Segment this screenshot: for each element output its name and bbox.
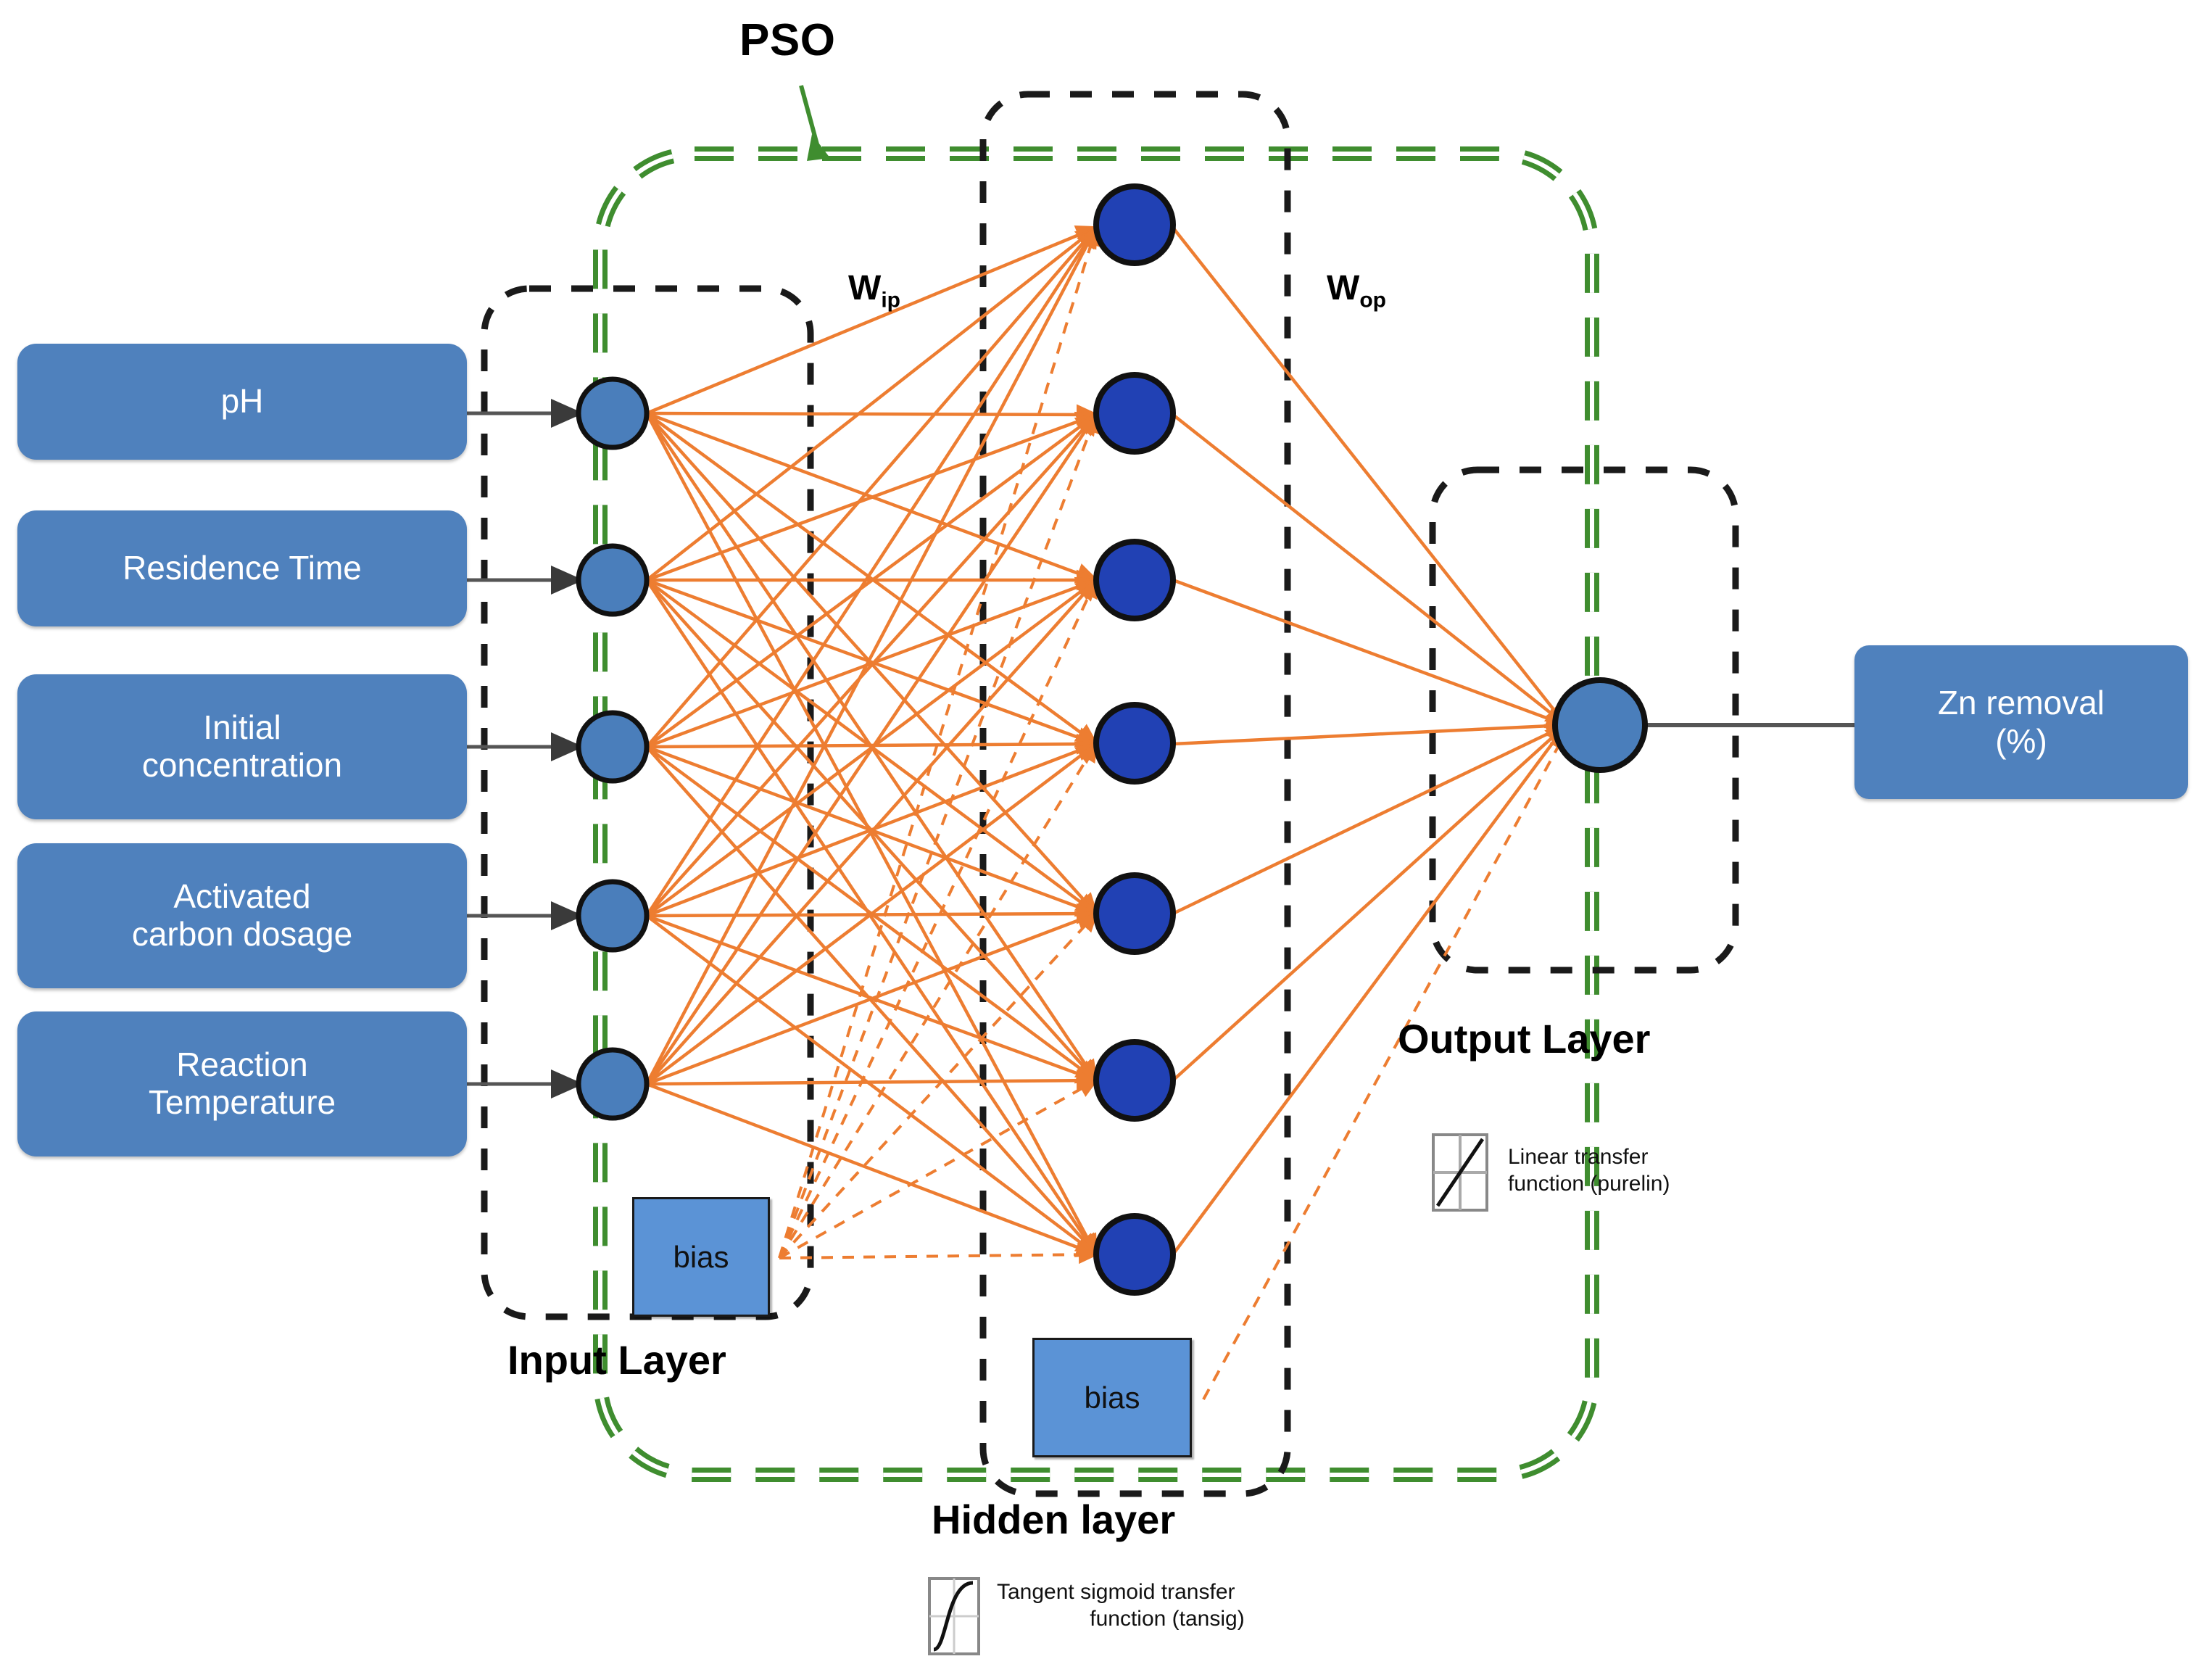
output-target-label: Zn removal (%) xyxy=(1938,684,2105,761)
hidden-bias-connection xyxy=(1203,732,1566,1399)
input-hidden-connections xyxy=(647,228,1096,1254)
purelin-caption-line2: function (purelin) xyxy=(1508,1171,1783,1198)
input-feature-box-reaction-temperature[interactable]: Reaction Temperature xyxy=(17,1011,467,1156)
weight-label-input-hidden: Wip xyxy=(848,268,900,313)
hidden-node-5[interactable] xyxy=(1096,875,1173,952)
input-feature-label: Activated carbon dosage xyxy=(132,878,352,953)
hidden-node-6[interactable] xyxy=(1096,1042,1173,1119)
hidden-node-7[interactable] xyxy=(1096,1216,1173,1293)
weight-base: W xyxy=(848,269,881,307)
input-feature-box-ph[interactable]: pH xyxy=(17,344,467,460)
input-nodes xyxy=(579,379,647,1118)
tansig-caption-line1: Tangent sigmoid transfer xyxy=(997,1579,1338,1606)
hidden-output-connections xyxy=(1173,228,1566,1254)
hidden-node-4[interactable] xyxy=(1096,705,1173,782)
purelin-line-icon xyxy=(1432,1133,1488,1212)
purelin-caption-line1: Linear transfer xyxy=(1508,1144,1783,1171)
input-feature-label: Residence Time xyxy=(123,550,362,587)
hidden-bias-box[interactable]: bias xyxy=(1032,1338,1192,1457)
output-node-1[interactable] xyxy=(1555,680,1645,770)
weight-subscript: op xyxy=(1359,289,1386,313)
purelin-caption: Linear transfer function (purelin) xyxy=(1508,1144,1783,1197)
input-node-3[interactable] xyxy=(579,713,647,781)
input-node-2[interactable] xyxy=(579,546,647,614)
bias-label: bias xyxy=(1084,1381,1140,1415)
input-bias-box[interactable]: bias xyxy=(632,1197,770,1317)
input-node-4[interactable] xyxy=(579,882,647,950)
hidden-node-2[interactable] xyxy=(1096,375,1173,452)
input-feature-label: Reaction Temperature xyxy=(149,1046,336,1121)
input-feature-box-initial-concentration[interactable]: Initial concentration xyxy=(17,674,467,819)
input-layer-boundary xyxy=(484,289,811,1317)
weight-subscript: ip xyxy=(881,289,900,313)
weight-base: W xyxy=(1327,269,1359,307)
input-layer-title: Input Layer xyxy=(507,1336,726,1383)
diagram-canvas: pH Residence Time Initial concentration … xyxy=(0,0,2201,1680)
hidden-node-3[interactable] xyxy=(1096,542,1173,618)
tansig-caption-line2: function (tansig) xyxy=(997,1606,1338,1633)
weight-label-hidden-output: Wop xyxy=(1327,268,1386,313)
hidden-node-1[interactable] xyxy=(1096,186,1173,263)
output-layer-title: Output Layer xyxy=(1398,1015,1650,1062)
input-feature-label: pH xyxy=(221,383,264,421)
hidden-layer-title: Hidden layer xyxy=(932,1496,1175,1543)
input-node-5[interactable] xyxy=(579,1050,647,1118)
input-feature-label: Initial concentration xyxy=(142,709,342,784)
pso-label: PSO xyxy=(739,15,835,66)
output-target-box-zn-removal[interactable]: Zn removal (%) xyxy=(1854,645,2188,799)
hidden-nodes xyxy=(1096,186,1173,1293)
input-feature-box-residence-time[interactable]: Residence Time xyxy=(17,510,467,626)
bias-label: bias xyxy=(673,1240,729,1275)
input-node-1[interactable] xyxy=(579,379,647,447)
tansig-curve-icon xyxy=(928,1577,980,1655)
tansig-caption: Tangent sigmoid transfer function (tansi… xyxy=(997,1579,1338,1632)
input-feature-box-activated-carbon-dosage[interactable]: Activated carbon dosage xyxy=(17,843,467,988)
